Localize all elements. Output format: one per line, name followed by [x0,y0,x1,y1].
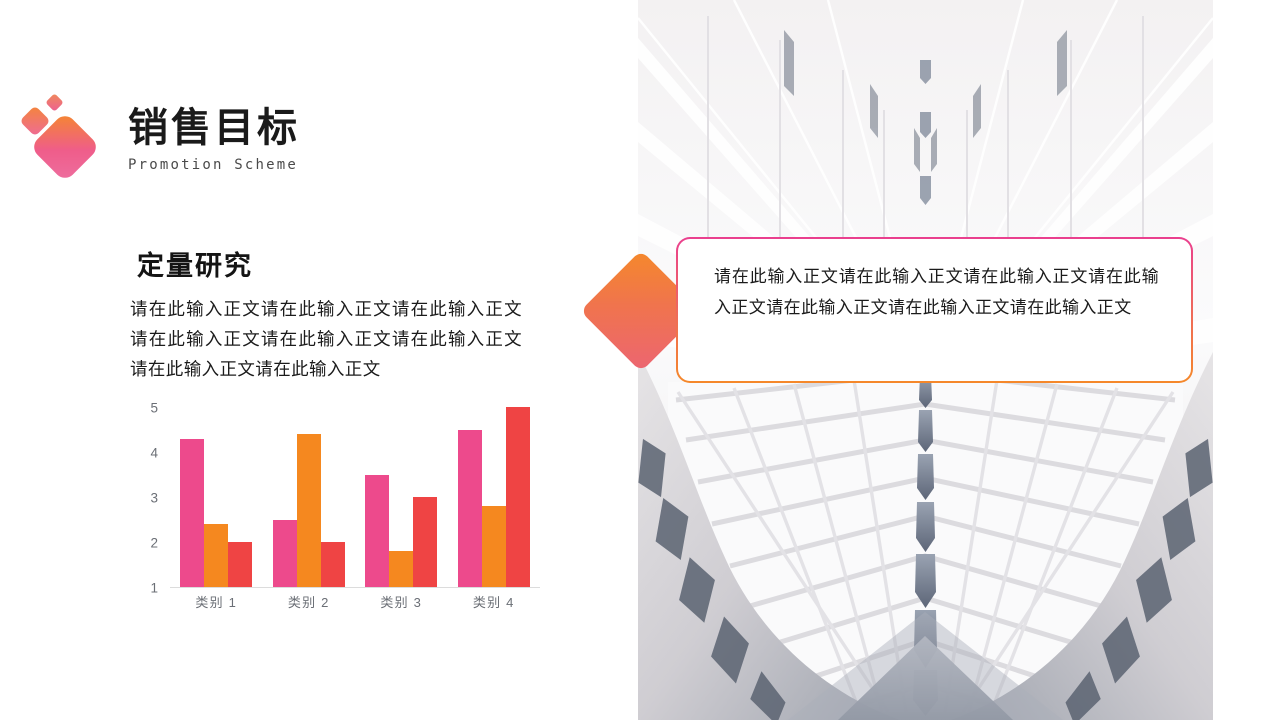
slide-root: 销售目标 Promotion Scheme 定量研究 请在此输入正文请在此输入正… [0,0,1280,720]
chart-bar [413,497,437,587]
header-text-block: 销售目标 Promotion Scheme [128,106,300,173]
chart-bar [228,542,252,587]
chart-bar [273,520,297,588]
chart-bar [204,524,228,587]
chart-x-tick-label: 类别 3 [365,592,437,611]
chart-x-tick-label: 类别 1 [180,592,252,611]
left-content-panel: 销售目标 Promotion Scheme 定量研究 请在此输入正文请在此输入正… [0,0,638,720]
chart-bar [321,542,345,587]
chart-y-tick-label: 3 [124,491,158,506]
chart-y-tick-label: 1 [124,581,158,596]
bar-chart: 54321 类别 1类别 2类别 3类别 4 [130,400,540,618]
section-heading: 定量研究 [137,244,253,283]
chart-bar [389,551,413,587]
body-paragraph: 请在此输入正文请在此输入正文请在此输入正文请在此输入正文请在此输入正文请在此输入… [130,294,522,384]
chart-plot-area [170,408,540,588]
chart-bar-group [273,408,345,587]
page-subtitle: Promotion Scheme [128,157,300,173]
chart-bar-group [365,408,437,587]
chart-y-tick-label: 5 [124,401,158,416]
callout-box: 请在此输入正文请在此输入正文请在此输入正文请在此输入正文请在此输入正文请在此输入… [676,237,1193,383]
chart-bar [482,506,506,587]
chart-y-axis: 54321 [130,400,164,588]
logo-square-small [45,93,63,111]
chart-y-tick-label: 2 [124,536,158,551]
chart-bar-group [458,408,530,587]
chart-x-axis: 类别 1类别 2类别 3类别 4 [170,592,540,611]
chart-bar [458,430,482,588]
chart-bar [365,475,389,588]
page-title: 销售目标 [128,106,300,151]
chart-x-tick-label: 类别 2 [273,592,345,611]
chart-bar-group [180,408,252,587]
callout-paragraph: 请在此输入正文请在此输入正文请在此输入正文请在此输入正文请在此输入正文请在此输入… [714,262,1159,324]
diamond-cluster-logo-icon [20,96,104,180]
chart-bar [180,439,204,588]
chart-bar [297,434,321,587]
chart-y-tick-label: 4 [124,446,158,461]
chart-x-tick-label: 类别 4 [458,592,530,611]
chart-bar [506,407,530,587]
